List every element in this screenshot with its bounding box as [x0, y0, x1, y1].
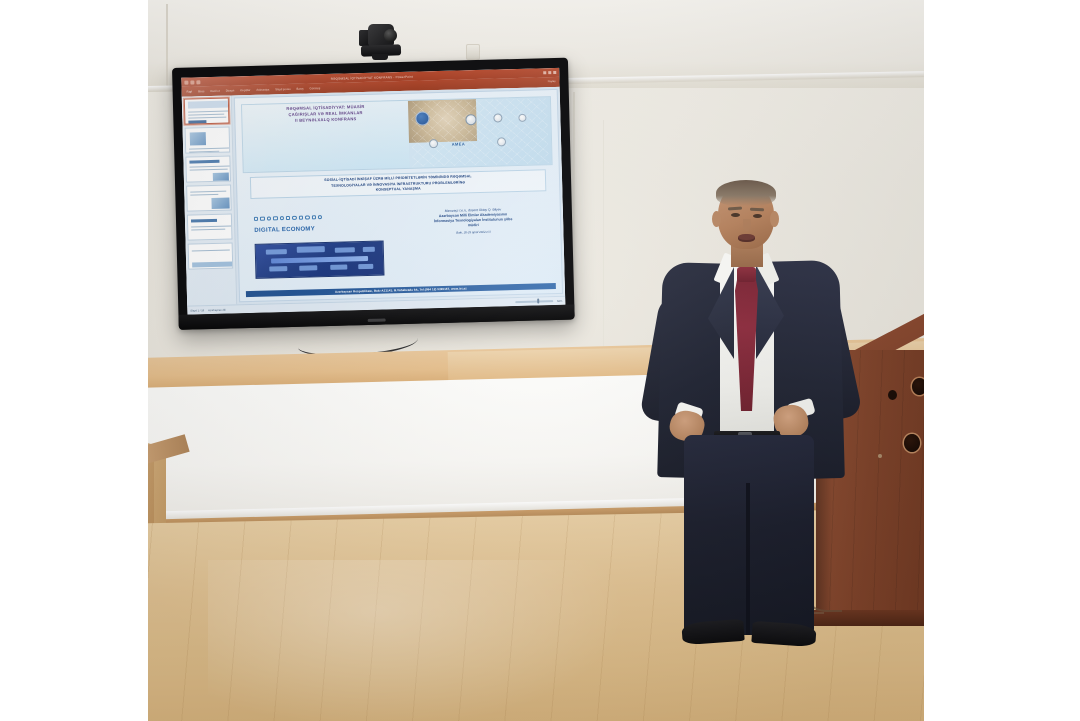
ribbon-tab-home[interactable]: Əsas — [198, 89, 205, 93]
ribbon-tab-review[interactable]: Baxış — [296, 87, 303, 91]
slide-editing-pane[interactable]: RƏQƏMSAL İQTİSADİYYAT: MÜASİR ÇAĞIRIŞLAR… — [232, 87, 565, 305]
digital-economy-graphic — [255, 241, 385, 279]
powerpoint-body: RƏQƏMSAL İQTİSADİYYAT: MÜASİR ÇAĞIRIŞLAR… — [182, 87, 565, 306]
soffit-seam — [166, 4, 168, 90]
presenter-mouth — [738, 234, 755, 242]
minimize-icon[interactable] — [543, 71, 546, 74]
author-block: Məruzəçi: t.e.n., dosent Oktay Q. Əliyev… — [396, 206, 551, 237]
slide-thumbnail[interactable] — [187, 213, 233, 240]
presenter-eye-right — [753, 214, 762, 218]
database-icon — [299, 215, 304, 220]
network-pattern — [411, 99, 548, 167]
window-controls[interactable] — [543, 71, 556, 74]
ribbon-tab-slideshow[interactable]: Slayd şousu — [275, 87, 290, 91]
display-screen[interactable]: RƏQƏMSAL İQTİSADİYYAT KONFRANS - PowerPo… — [181, 68, 565, 315]
ribbon-tab-design[interactable]: Dizayn — [226, 88, 235, 92]
undo-icon[interactable] — [190, 80, 194, 84]
partner-logo-icon — [497, 137, 506, 146]
wall-seam — [573, 92, 575, 272]
cloud-icon — [286, 216, 291, 221]
slide-banner: RƏQƏMSAL İQTİSADİYYAT: MÜASİR ÇAĞIRIŞLAR… — [241, 96, 552, 173]
chart-icon — [254, 217, 259, 222]
lectern-cable-hole — [888, 390, 897, 400]
presenter-leg-separation — [746, 483, 750, 635]
banner-graphic: AMEA — [408, 97, 551, 168]
grid-icon — [273, 216, 278, 221]
quick-access-toolbar[interactable] — [184, 80, 200, 84]
powerpoint-window[interactable]: RƏQƏMSAL İQTİSADİYYAT KONFRANS - PowerPo… — [181, 68, 565, 315]
network-icon — [305, 215, 310, 220]
zoom-slider-handle[interactable] — [537, 299, 540, 304]
slide-thumbnail[interactable] — [188, 242, 234, 269]
partner-logo-icon — [493, 113, 502, 122]
maximize-icon[interactable] — [548, 71, 551, 74]
wall-plate — [466, 44, 480, 60]
camera-mount — [372, 54, 388, 60]
banner-title-zone: RƏQƏMSAL İQTİSADİYYAT: MÜASİR ÇAĞIRIŞLAR… — [242, 101, 410, 172]
ribbon-tab-transitions[interactable]: Keçidlər — [240, 88, 250, 92]
presenter-ear-right — [770, 211, 779, 227]
wall-display[interactable]: RƏQƏMSAL İQTİSADİYYAT KONFRANS - PowerPo… — [172, 58, 575, 330]
ribbon-tab-animations[interactable]: Animasiya — [256, 87, 269, 91]
gear-icon — [280, 216, 285, 221]
ribbon-tab-file[interactable]: Fayl — [187, 89, 192, 93]
slide-thumbnail[interactable] — [186, 184, 232, 211]
slide-footer: Azərbaycan Respublikası, Bakı-AZ1141, B.… — [246, 283, 555, 297]
slide-thumbnail[interactable] — [185, 127, 231, 154]
presenter-eye-left — [731, 213, 740, 217]
presenter-hair — [716, 180, 776, 206]
presenter-ear-left — [712, 211, 721, 227]
lectern-cable-hole — [912, 378, 924, 395]
save-icon[interactable] — [184, 80, 188, 84]
presenter-tie-knot — [737, 267, 756, 282]
slide-thumbnail[interactable] — [184, 98, 230, 125]
user-icon — [318, 215, 323, 220]
ribbon-tab-insert[interactable]: Daxil et — [210, 89, 219, 93]
slide-counter: Slayd 1 / 18 — [190, 309, 204, 312]
ptz-camera-icon — [358, 24, 404, 62]
presenter-nose — [743, 219, 751, 231]
lock-icon — [292, 216, 297, 221]
photo-frame: RƏQƏMSAL İQTİSADİYYAT KONFRANS - PowerPo… — [0, 0, 1080, 721]
globe-icon — [267, 216, 272, 221]
zoom-level-label[interactable]: 68% — [557, 299, 562, 302]
slide-thumbnail[interactable] — [185, 156, 231, 183]
slide-icon-row — [254, 213, 396, 221]
share-button[interactable]: Paylaş — [548, 80, 556, 83]
presenter — [646, 183, 866, 653]
current-slide[interactable]: RƏQƏMSAL İQTİSADİYYAT: MÜASİR ÇAĞIRIŞLAR… — [234, 89, 563, 302]
close-icon[interactable] — [553, 71, 556, 74]
banner-logo-text: AMEA — [452, 141, 466, 146]
slide-thumbnail-pane[interactable] — [182, 95, 237, 305]
zoom-slider[interactable] — [515, 300, 553, 303]
language-indicator[interactable]: Azərbaycan dili — [208, 308, 226, 311]
camera-head — [368, 24, 394, 46]
chip-icon — [312, 215, 317, 220]
lectern-screw — [878, 454, 882, 458]
partner-logo-icon — [465, 114, 476, 125]
camera-lens-icon — [384, 29, 397, 42]
digital-economy-label: DIGITAL ECONOMY — [254, 226, 315, 234]
photograph: RƏQƏMSAL İQTİSADİYYAT KONFRANS - PowerPo… — [148, 0, 924, 721]
slide-subtitle: SOSİAL-İQTİSADİ İNKİŞAF ÜZRƏ MİLLİ PRİOR… — [250, 169, 547, 199]
ribbon-tab-view[interactable]: Görünüş — [309, 86, 320, 90]
lectern-cable-hole — [904, 434, 920, 452]
wall-seam-secondary — [603, 120, 604, 360]
document-icon — [260, 216, 265, 221]
display-brand-mark — [368, 318, 386, 321]
